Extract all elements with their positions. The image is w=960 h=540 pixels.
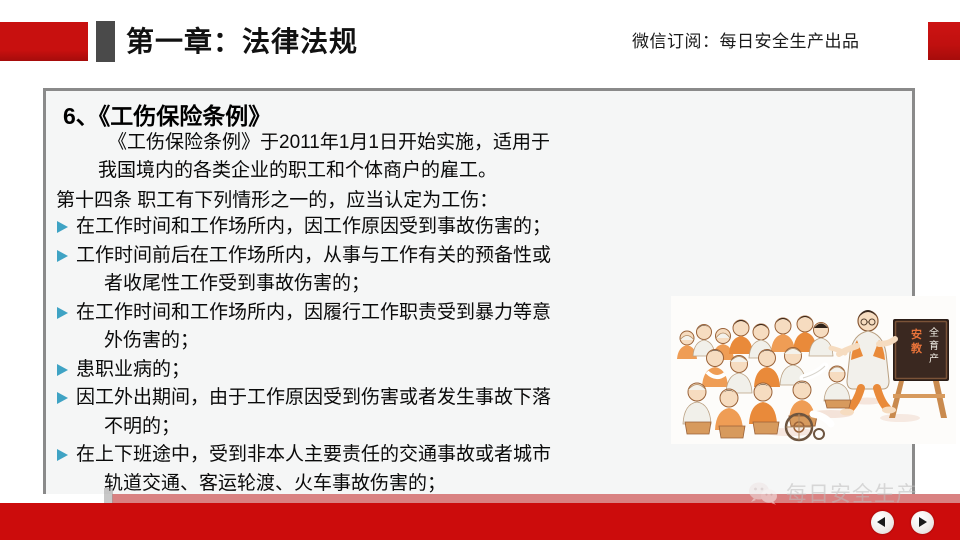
prev-slide-button[interactable]: [871, 511, 894, 534]
list-item-line-1: 患职业病的；: [76, 356, 640, 385]
chapter-title: 第一章：法律法规: [126, 22, 358, 62]
clause-heading: 第十四条 职工有下列情形之一的，应当认定为工伤：: [56, 187, 498, 215]
arrow-bullet-icon: [57, 392, 68, 404]
list-item-line-1: 在上下班途中，受到非本人主要责任的交通事故或者城市: [76, 441, 640, 470]
list-item-line-1: 工作时间前后在工作场所内，从事与工作有关的预备性或: [76, 242, 640, 271]
watermark-text: 每日安全生产: [786, 478, 918, 508]
arrow-bullet-icon: [57, 364, 68, 376]
subscription-note: 微信订阅：每日安全生产出品: [632, 30, 860, 54]
arrow-left-icon: [877, 517, 885, 527]
svg-text:安: 安: [911, 327, 922, 341]
intro-line-1: 《工伤保险条例》于2011年1月1日开始实施，适用于: [60, 129, 650, 157]
injury-conditions-list: 在工作时间和工作场所内，因工作原因受到事故伤害的； 工作时间前后在工作场所内，从…: [56, 213, 640, 527]
svg-text:教: 教: [910, 341, 923, 355]
arrow-bullet-icon: [57, 307, 68, 319]
list-item-line-1: 在工作时间和工作场所内，因工作原因受到事故伤害的；: [76, 213, 640, 242]
intro-paragraph: 《工伤保险条例》于2011年1月1日开始实施，适用于 我国境内的各类企业的职工和…: [60, 129, 650, 185]
svg-text:育: 育: [929, 339, 939, 352]
svg-text:全: 全: [929, 326, 939, 339]
arrow-bullet-icon: [57, 449, 68, 461]
list-item-line-1: 因工外出期间，由于工作原因受到伤害或者发生事故下落: [76, 384, 640, 413]
header-red-accent-left: [0, 22, 88, 61]
arrow-bullet-icon: [57, 221, 68, 233]
list-item: 在工作时间和工作场所内，因工作原因受到事故伤害的；: [56, 213, 640, 242]
list-item: 患职业病的；: [56, 356, 640, 385]
list-item-line-2: 外伤害的；: [76, 327, 640, 356]
next-slide-button[interactable]: [911, 511, 934, 534]
header-gray-accent-block: [96, 21, 115, 62]
footer-red-band: [0, 503, 960, 540]
arrow-bullet-icon: [57, 250, 68, 262]
section-heading: 6、《工伤保险条例》: [63, 97, 271, 131]
arrow-right-icon: [919, 517, 927, 527]
list-item: 在工作时间和工作场所内，因履行工作职责受到暴力等意 外伤害的；: [56, 299, 640, 356]
footer-gray-tick: [104, 488, 113, 504]
content-panel: 6、《工伤保险条例》 《工伤保险条例》于2011年1月1日开始实施，适用于 我国…: [43, 88, 915, 500]
header-red-accent-right: [928, 22, 960, 60]
list-item-line-2: 者收尾性工作受到事故伤害的；: [76, 270, 640, 299]
list-item-line-1: 在工作时间和工作场所内，因履行工作职责受到暴力等意: [76, 299, 640, 328]
presentation-slide: 第一章：法律法规 微信订阅：每日安全生产出品 6、《工伤保险条例》 《工伤保险条…: [0, 0, 960, 540]
list-item: 工作时间前后在工作场所内，从事与工作有关的预备性或 者收尾性工作受到事故伤害的；: [56, 242, 640, 299]
safety-training-illustration: 安 教 全 育 产: [671, 296, 956, 444]
wechat-icon: [748, 481, 778, 505]
list-item: 在上下班途中，受到非本人主要责任的交通事故或者城市 轨道交通、客运轮渡、火车事故…: [56, 441, 640, 498]
list-item-line-2: 不明的；: [76, 413, 640, 442]
svg-text:产: 产: [929, 352, 939, 365]
illustration-drawing: 安 教 全 育 产: [671, 296, 956, 444]
wechat-watermark: 每日安全生产: [748, 478, 918, 508]
list-item: 因工外出期间，由于工作原因受到伤害或者发生事故下落 不明的；: [56, 384, 640, 441]
intro-line-2: 我国境内的各类企业的职工和个体商户的雇工。: [60, 157, 650, 185]
